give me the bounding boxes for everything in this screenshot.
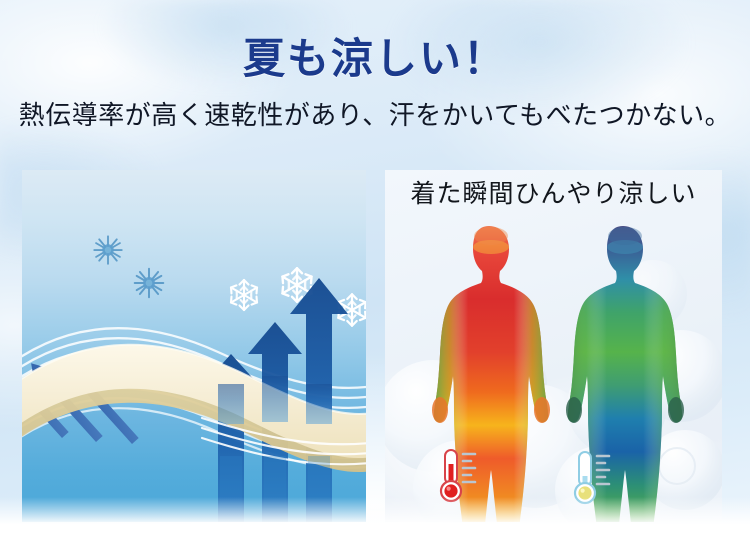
right-illustration-panel: 着た瞬間ひんやり涼しい: [385, 170, 722, 522]
page-headline: 夏も涼しい！: [0, 38, 750, 82]
bottom-fade: [0, 497, 750, 547]
cold-particles: [94, 236, 163, 297]
left-panel-artwork: [22, 170, 366, 522]
page-subheadline: 熱伝導率が高く速乾性があり、汗をかいてもべたつかない。: [0, 100, 750, 133]
right-panel-artwork: [385, 170, 722, 522]
poster-canvas: 夏も涼しい！ 熱伝導率が高く速乾性があり、汗をかいてもべたつかない。: [0, 0, 750, 547]
snowflakes: [231, 268, 366, 326]
left-illustration-panel: [22, 170, 366, 522]
right-panel-title: 着た瞬間ひんやり涼しい: [385, 180, 722, 210]
